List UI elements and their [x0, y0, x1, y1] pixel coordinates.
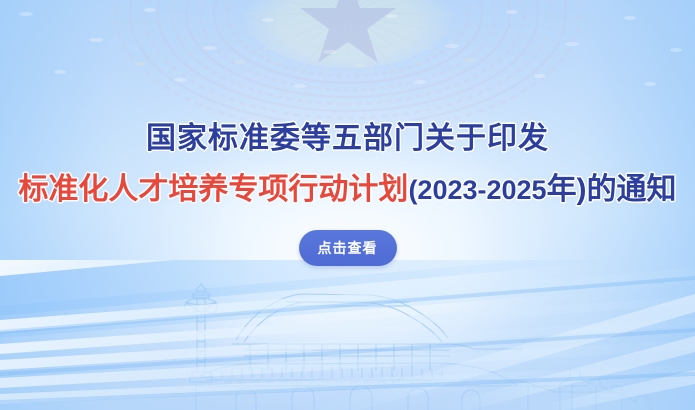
view-notice-button[interactable]: 点击查看: [299, 230, 397, 266]
banner-title-years: (2023-2025: [408, 175, 546, 205]
banner-title-line-1: 国家标准委等五部门关于印发: [146, 121, 549, 157]
banner-title-highlight: 标准化人才培养专项行动计划: [18, 173, 408, 206]
banner-content: 国家标准委等五部门关于印发 标准化人才培养专项行动计划(2023-2025年)的…: [0, 0, 695, 410]
notice-banner: 国家标准委等五部门关于印发 标准化人才培养专项行动计划(2023-2025年)的…: [0, 0, 695, 410]
banner-title-suffix: 的通知: [587, 173, 677, 206]
banner-title-line-2: 标准化人才培养专项行动计划(2023-2025年)的通知: [18, 172, 676, 208]
banner-title-year-unit: 年): [547, 173, 587, 206]
